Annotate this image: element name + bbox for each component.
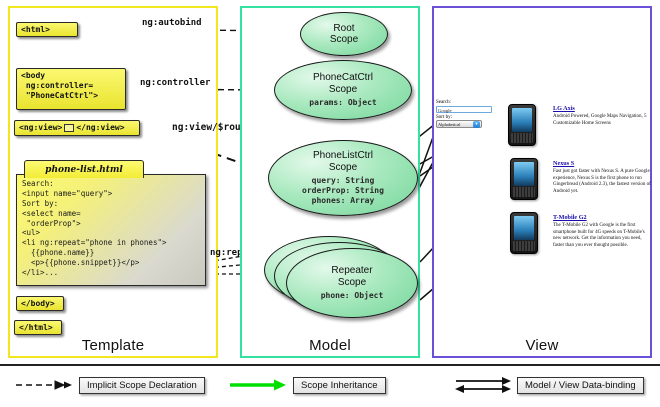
code-tag-html-close: </html> (14, 320, 62, 335)
phone-thumbnail-tmobile-g2 (510, 212, 538, 254)
scope-repeater-title: Repeater Scope (331, 265, 372, 287)
phone-keyboard (513, 187, 535, 197)
panel-view-label: View (434, 337, 650, 354)
legend: Implicit Scope Declaration Scope Inherit… (0, 364, 660, 407)
chevron-down-icon: ▾ (473, 121, 480, 128)
scope-phonecatctrl-title: PhoneCatCtrl Scope (313, 72, 373, 94)
panel-template-label: Template (10, 337, 216, 354)
phone-list-item: T-Mobile G2 The T-Mobile G2 with Google … (553, 214, 651, 249)
phone-snippet: Fast just got faster with Nexus S. A pur… (553, 169, 651, 195)
legend-item-data-binding: Model / View Data-binding (452, 376, 644, 394)
template-file-callout: phone-list.html Search: <input name="que… (16, 160, 206, 288)
phone-name-link[interactable]: LG Axis (553, 105, 651, 112)
legend-label-data-binding: Model / View Data-binding (517, 377, 644, 394)
code-tag-body-open: <body ng:controller= "PhoneCatCtrl"> (16, 68, 126, 110)
label-ng-autobind: ng:autobind (142, 18, 202, 28)
phone-screen (514, 162, 534, 186)
scope-root: Root Scope (300, 12, 388, 56)
scope-phonecatctrl-props: params: Object (309, 98, 376, 108)
label-ng-controller: ng:controller (140, 78, 210, 88)
scope-root-title: Root Scope (330, 23, 358, 45)
diagram-canvas: Template <html> <body ng:controller= "Ph… (0, 0, 660, 405)
search-label: Search: (436, 100, 500, 106)
phone-keyboard (511, 133, 533, 143)
sort-select-value: Alphabetical (438, 122, 460, 127)
phone-snippet: Android Powered, Google Maps Navigation,… (553, 114, 651, 127)
legend-label-scope-inheritance: Scope Inheritance (293, 377, 386, 394)
view-search-form: Search: Google Sort by: Alphabetical ▾ (436, 100, 500, 140)
panel-model-label: Model (242, 337, 418, 354)
code-tag-html-open: <html> (16, 22, 78, 37)
phone-list-item: LG Axis Android Powered, Google Maps Nav… (553, 105, 651, 127)
phone-name-link[interactable]: Nexus S (553, 160, 651, 167)
phone-screen (514, 216, 534, 240)
double-arrow-icon (452, 375, 512, 395)
scope-repeater-props: phone: Object (321, 291, 384, 301)
phone-thumbnail-nexus-s (510, 158, 538, 200)
code-tag-ngview: <ng:view> </ng:view> (14, 120, 140, 136)
phone-name-link[interactable]: T-Mobile G2 (553, 214, 651, 221)
phone-snippet: The T-Mobile G2 with Google is the first… (553, 223, 651, 249)
phone-keyboard (513, 241, 535, 251)
phone-list-item: Nexus S Fast just got faster with Nexus … (553, 160, 651, 195)
scope-phonelistctrl-props: query: String orderProp: String phones: … (302, 176, 384, 206)
scope-phonecatctrl: PhoneCatCtrl Scope params: Object (274, 60, 412, 120)
legend-label-implicit-scope: Implicit Scope Declaration (79, 377, 205, 394)
template-file-code: Search: <input name="query"> Sort by: <s… (16, 174, 206, 286)
phone-thumbnail-lg-axis (508, 104, 536, 146)
legend-item-implicit-scope: Implicit Scope Declaration (14, 376, 205, 394)
template-file-name: phone-list.html (24, 160, 144, 178)
legend-item-scope-inheritance: Scope Inheritance (228, 376, 386, 394)
scope-repeater-stack: Repeater Scope phone: Object (264, 236, 416, 318)
scope-repeater: Repeater Scope phone: Object (286, 248, 418, 318)
scope-phonelistctrl-title: PhoneListCtrl Scope (313, 150, 373, 172)
ngview-close-text: </ng:view> (76, 123, 124, 133)
view-placeholder-icon (64, 124, 74, 132)
phone-screen (512, 108, 532, 132)
sort-select[interactable]: Alphabetical ▾ (436, 120, 482, 128)
code-tag-body-close: </body> (16, 296, 64, 311)
scope-phonelistctrl: PhoneListCtrl Scope query: String orderP… (268, 140, 418, 216)
dashed-arrow-icon (14, 378, 74, 392)
ngview-open-text: <ng:view> (19, 123, 62, 133)
green-arrow-icon (228, 378, 288, 392)
search-input[interactable]: Google (436, 106, 492, 113)
